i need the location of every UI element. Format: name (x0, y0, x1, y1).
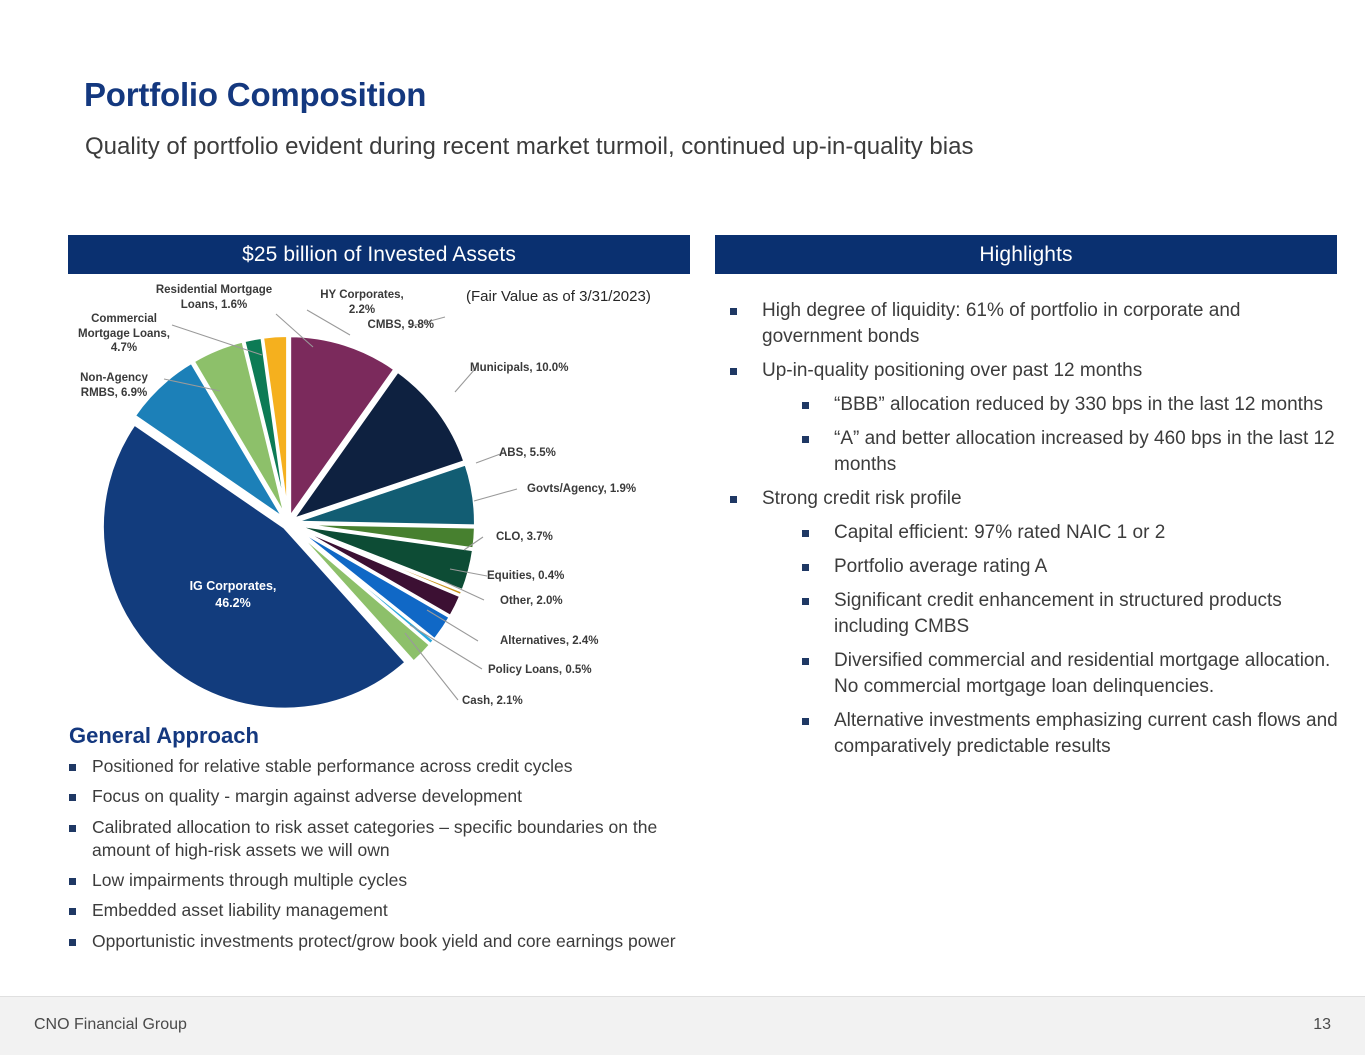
general-approach-item-text: Opportunistic investments protect/grow b… (92, 930, 676, 953)
general-approach-item: Opportunistic investments protect/grow b… (69, 930, 719, 953)
general-approach-item-text: Focus on quality - margin against advers… (92, 785, 522, 808)
bullet-square-icon (730, 368, 737, 375)
highlights-item-text: Diversified commercial and residential m… (834, 648, 1345, 700)
pie-label-cmbs: CMBS, 9.8% (300, 318, 434, 333)
general-approach-item-text: Low impairments through multiple cycles (92, 869, 407, 892)
general-approach-title: General Approach (69, 723, 259, 749)
highlights-item-level2: Capital efficient: 97% rated NAIC 1 or 2 (730, 520, 1345, 546)
highlights-item-text: High degree of liquidity: 61% of portfol… (762, 298, 1345, 350)
general-approach-item: Positioned for relative stable performan… (69, 755, 719, 778)
bullet-square-icon (69, 878, 76, 885)
highlights-item-level2: Alternative investments emphasizing curr… (730, 708, 1345, 760)
bullet-square-icon (69, 908, 76, 915)
pie-inside-label-line1: IG Corporates, (190, 579, 277, 593)
pie-label-abs: ABS, 5.5% (499, 446, 556, 461)
pie-label-hy-corporates: HY Corporates, 2.2% (316, 288, 408, 317)
section-header-highlights: Highlights (715, 235, 1337, 274)
general-approach-item-text: Embedded asset liability management (92, 899, 388, 922)
highlights-list: High degree of liquidity: 61% of portfol… (730, 298, 1345, 768)
footer-page-number: 13 (1313, 1016, 1331, 1034)
highlights-item-level2: “BBB” allocation reduced by 330 bps in t… (730, 392, 1345, 418)
bullet-square-icon (802, 658, 809, 665)
highlights-item-level2: Portfolio average rating A (730, 554, 1345, 580)
pie-label-cash: Cash, 2.1% (462, 694, 523, 709)
bullet-square-icon (69, 764, 76, 771)
pie-label-govts-agency: Govts/Agency, 1.9% (527, 482, 636, 497)
highlights-item-text: Portfolio average rating A (834, 554, 1047, 580)
highlights-item-level2: Significant credit enhancement in struct… (730, 588, 1345, 640)
highlights-item-text: Strong credit risk profile (762, 486, 962, 512)
general-approach-item: Low impairments through multiple cycles (69, 869, 719, 892)
pie-label-municipals: Municipals, 10.0% (470, 361, 568, 376)
highlights-item-text: Significant credit enhancement in struct… (834, 588, 1345, 640)
highlights-item-text: “BBB” allocation reduced by 330 bps in t… (834, 392, 1323, 418)
section-header-invested-assets: $25 billion of Invested Assets (68, 235, 690, 274)
bullet-square-icon (802, 598, 809, 605)
highlights-item-level1: Strong credit risk profile (730, 486, 1345, 512)
bullet-square-icon (802, 436, 809, 443)
general-approach-list: Positioned for relative stable performan… (69, 755, 719, 960)
pie-label-policy-loans: Policy Loans, 0.5% (488, 663, 592, 678)
general-approach-item-text: Positioned for relative stable performan… (92, 755, 573, 778)
highlights-item-level2: Diversified commercial and residential m… (730, 648, 1345, 700)
bullet-square-icon (730, 496, 737, 503)
bullet-square-icon (69, 794, 76, 801)
highlights-item-text: Capital efficient: 97% rated NAIC 1 or 2 (834, 520, 1165, 546)
pie-label-equities: Equities, 0.4% (487, 569, 564, 584)
highlights-item-level1: Up-in-quality positioning over past 12 m… (730, 358, 1345, 384)
bullet-square-icon (69, 825, 76, 832)
footer-company: CNO Financial Group (34, 1016, 187, 1034)
pie-label-non-agency-rmbs: Non-Agency RMBS, 6.9% (62, 371, 166, 400)
footer: CNO Financial Group 13 (0, 996, 1365, 1055)
highlights-item-level1: High degree of liquidity: 61% of portfol… (730, 298, 1345, 350)
general-approach-item: Focus on quality - margin against advers… (69, 785, 719, 808)
highlights-item-text: Up-in-quality positioning over past 12 m… (762, 358, 1142, 384)
general-approach-item: Calibrated allocation to risk asset cate… (69, 816, 719, 863)
bullet-square-icon (730, 308, 737, 315)
bullet-square-icon (802, 718, 809, 725)
pie-label-clo: CLO, 3.7% (496, 530, 553, 545)
bullet-square-icon (802, 402, 809, 409)
pie-inside-label-line2: 46.2% (215, 596, 250, 610)
pie-label-commercial-mortgage-loans: Commercial Mortgage Loans, 4.7% (62, 312, 186, 356)
highlights-item-text: Alternative investments emphasizing curr… (834, 708, 1345, 760)
pie-label-other: Other, 2.0% (500, 594, 563, 609)
pie-label-alternatives: Alternatives, 2.4% (500, 634, 598, 649)
bullet-square-icon (69, 939, 76, 946)
highlights-item-level2: “A” and better allocation increased by 4… (730, 426, 1345, 478)
page-title: Portfolio Composition (84, 76, 426, 114)
general-approach-item: Embedded asset liability management (69, 899, 719, 922)
highlights-item-text: “A” and better allocation increased by 4… (834, 426, 1345, 478)
general-approach-item-text: Calibrated allocation to risk asset cate… (92, 816, 719, 863)
bullet-square-icon (802, 564, 809, 571)
slide: Portfolio Composition Quality of portfol… (0, 0, 1365, 1055)
page-subtitle: Quality of portfolio evident during rece… (85, 133, 973, 161)
pie-label-residential-mortgage-loans: Residential Mortgage Loans, 1.6% (150, 283, 278, 312)
bullet-square-icon (802, 530, 809, 537)
